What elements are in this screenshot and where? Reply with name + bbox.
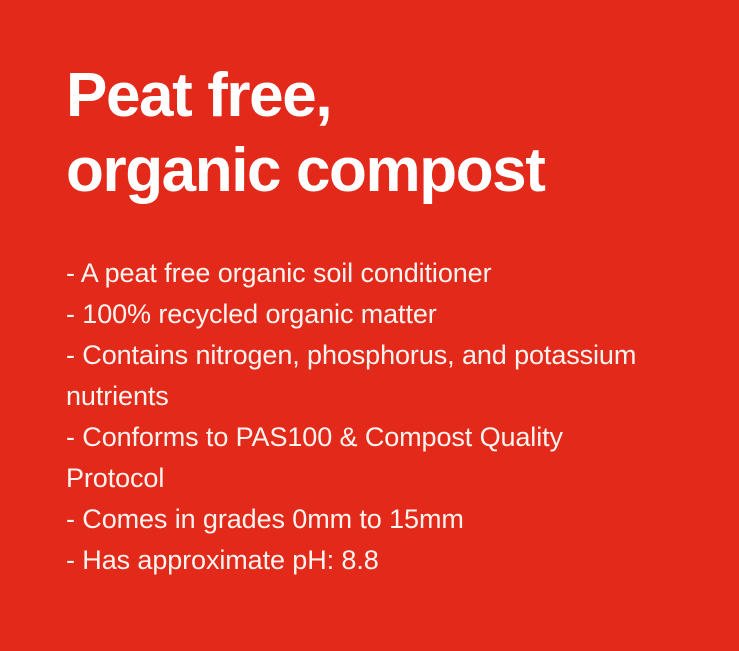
page-title-line-2: organic compost [66,133,545,208]
product-promo-card: Peat free, organic compost - A peat free… [0,0,739,651]
list-item: - Comes in grades 0mm to 15mm [66,499,666,540]
page-title: Peat free, organic compost [66,58,545,208]
feature-list: - A peat free organic soil conditioner -… [66,253,666,581]
list-item: - Conforms to PAS100 & Compost Quality P… [66,417,666,499]
card-content-wrapper: Peat free, organic compost - A peat free… [66,0,719,651]
page-title-line-1: Peat free, [66,58,545,133]
list-item: - Contains nitrogen, phosphorus, and pot… [66,335,666,417]
list-item: - Has approximate pH: 8.8 [66,540,666,581]
list-item: - 100% recycled organic matter [66,294,666,335]
list-item: - A peat free organic soil conditioner [66,253,666,294]
